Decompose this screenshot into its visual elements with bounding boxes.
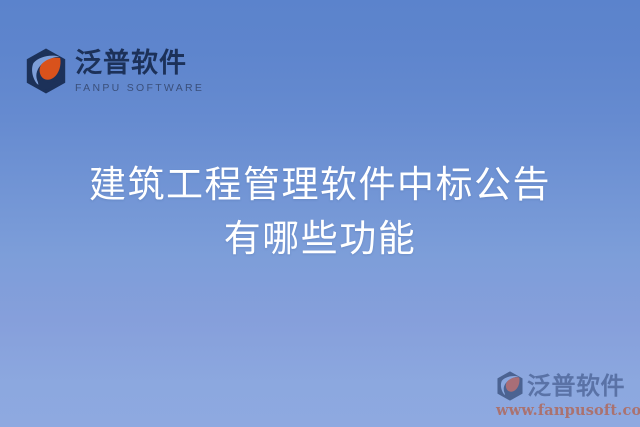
page-title-line-2: 有哪些功能 [0, 212, 640, 266]
brand-lockup: 泛普软件 FANPU SOFTWARE [26, 48, 204, 94]
brand-name-cn: 泛普软件 [75, 49, 204, 78]
brand-name-en: FANPU SOFTWARE [75, 83, 204, 94]
watermark-url: www.fanpusoft.com [496, 402, 634, 419]
watermark-lockup: 泛普软件 [496, 371, 634, 401]
watermark: 泛普软件 www.fanpusoft.com [496, 371, 634, 419]
page-title-line-1: 建筑工程管理软件中标公告 [0, 158, 640, 212]
poster-canvas: 泛普软件 FANPU SOFTWARE 建筑工程管理软件中标公告 有哪些功能 泛… [0, 0, 640, 427]
page-title: 建筑工程管理软件中标公告 有哪些功能 [0, 158, 640, 266]
fanpu-hexagon-logo-icon [26, 48, 66, 94]
watermark-name-cn: 泛普软件 [527, 374, 625, 398]
fanpu-hexagon-logo-watermark-icon [496, 371, 524, 401]
brand-wordmark: 泛普软件 FANPU SOFTWARE [75, 49, 204, 94]
